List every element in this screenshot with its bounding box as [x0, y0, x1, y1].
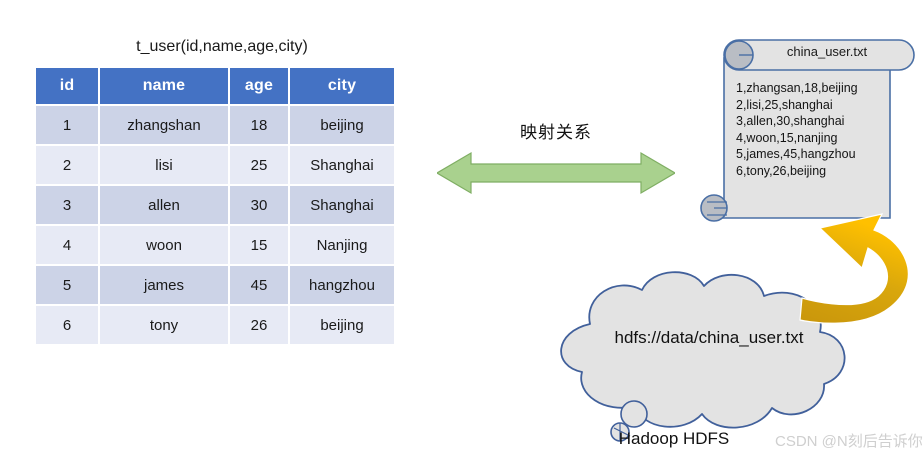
cell-name: allen	[100, 186, 228, 224]
cell-name: zhangshan	[100, 106, 228, 144]
column-header-name: name	[100, 68, 228, 104]
cell-city: hangzhou	[290, 266, 394, 304]
cell-city: Shanghai	[290, 146, 394, 184]
cell-city: Nanjing	[290, 226, 394, 264]
cell-age: 30	[230, 186, 288, 224]
mapping-label: 映射关系	[437, 118, 675, 143]
table-row: 2 lisi 25 Shanghai	[36, 146, 394, 184]
table-row: 6 tony 26 beijing	[36, 306, 394, 344]
cell-name: james	[100, 266, 228, 304]
cell-age: 25	[230, 146, 288, 184]
cell-id: 1	[36, 106, 98, 144]
scroll-file-name: china_user.txt	[752, 44, 902, 59]
cell-id: 4	[36, 226, 98, 264]
csdn-watermark: CSDN @N刻后告诉你	[775, 430, 923, 451]
table-row: 3 allen 30 Shanghai	[36, 186, 394, 224]
table-header-row: id name age city	[36, 68, 394, 104]
table-row: 5 james 45 hangzhou	[36, 266, 394, 304]
hadoop-hdfs-caption: Hadoop HDFS	[564, 429, 784, 449]
double-arrow-icon	[437, 149, 675, 197]
cell-age: 18	[230, 106, 288, 144]
scroll-file-contents: 1,zhangsan,18,beijing 2,lisi,25,shanghai…	[736, 80, 906, 179]
user-table-block: t_user(id,name,age,city) id name age cit…	[34, 38, 392, 346]
cell-name: woon	[100, 226, 228, 264]
mapping-relation-group: 映射关系	[437, 118, 675, 197]
column-header-age: age	[230, 68, 288, 104]
table-row: 4 woon 15 Nanjing	[36, 226, 394, 264]
scroll-document: china_user.txt 1,zhangsan,18,beijing 2,l…	[694, 36, 920, 228]
column-header-id: id	[36, 68, 98, 104]
cell-id: 5	[36, 266, 98, 304]
user-table: id name age city 1 zhangshan 18 beijing …	[34, 66, 396, 346]
column-header-city: city	[290, 68, 394, 104]
cell-id: 2	[36, 146, 98, 184]
cell-name: lisi	[100, 146, 228, 184]
cell-city: Shanghai	[290, 186, 394, 224]
cell-age: 26	[230, 306, 288, 344]
cell-age: 45	[230, 266, 288, 304]
cell-id: 3	[36, 186, 98, 224]
table-row: 1 zhangshan 18 beijing	[36, 106, 394, 144]
cell-name: tony	[100, 306, 228, 344]
cell-age: 15	[230, 226, 288, 264]
cell-city: beijing	[290, 106, 394, 144]
cell-city: beijing	[290, 306, 394, 344]
table-title: t_user(id,name,age,city)	[34, 38, 392, 56]
upload-curved-arrow-icon	[778, 212, 923, 340]
cell-id: 6	[36, 306, 98, 344]
